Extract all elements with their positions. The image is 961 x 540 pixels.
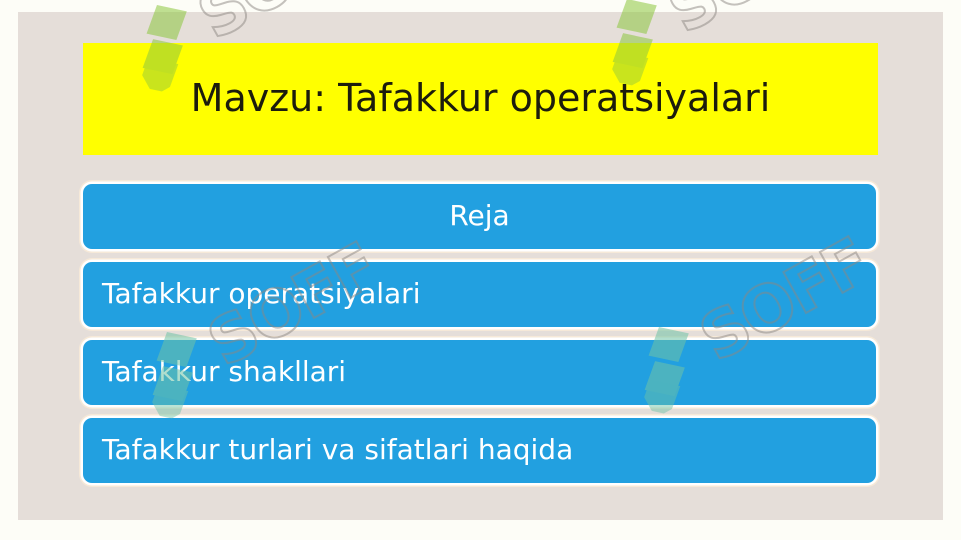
page-title: Mavzu: Tafakkur operatsiyalari [191, 78, 771, 120]
list-item[interactable]: Tafakkur shakllari [83, 340, 876, 405]
list-item-label: Tafakkur shakllari [83, 357, 346, 388]
list-item[interactable]: Tafakkur turlari va sifatlari haqida [83, 418, 876, 483]
section-heading-label: Reja [449, 201, 509, 232]
list-item-label: Tafakkur turlari va sifatlari haqida [83, 435, 573, 466]
slide-root: Mavzu: Tafakkur operatsiyalari Reja Tafa… [0, 0, 961, 540]
slide-title-block: Mavzu: Tafakkur operatsiyalari [83, 43, 878, 155]
slide-content-stack: Mavzu: Tafakkur operatsiyalari Reja Tafa… [83, 43, 878, 493]
list-item-label: Tafakkur operatsiyalari [83, 279, 420, 310]
slide-canvas: Mavzu: Tafakkur operatsiyalari Reja Tafa… [18, 12, 943, 520]
section-heading-block[interactable]: Reja [83, 184, 876, 249]
list-item[interactable]: Tafakkur operatsiyalari [83, 262, 876, 327]
